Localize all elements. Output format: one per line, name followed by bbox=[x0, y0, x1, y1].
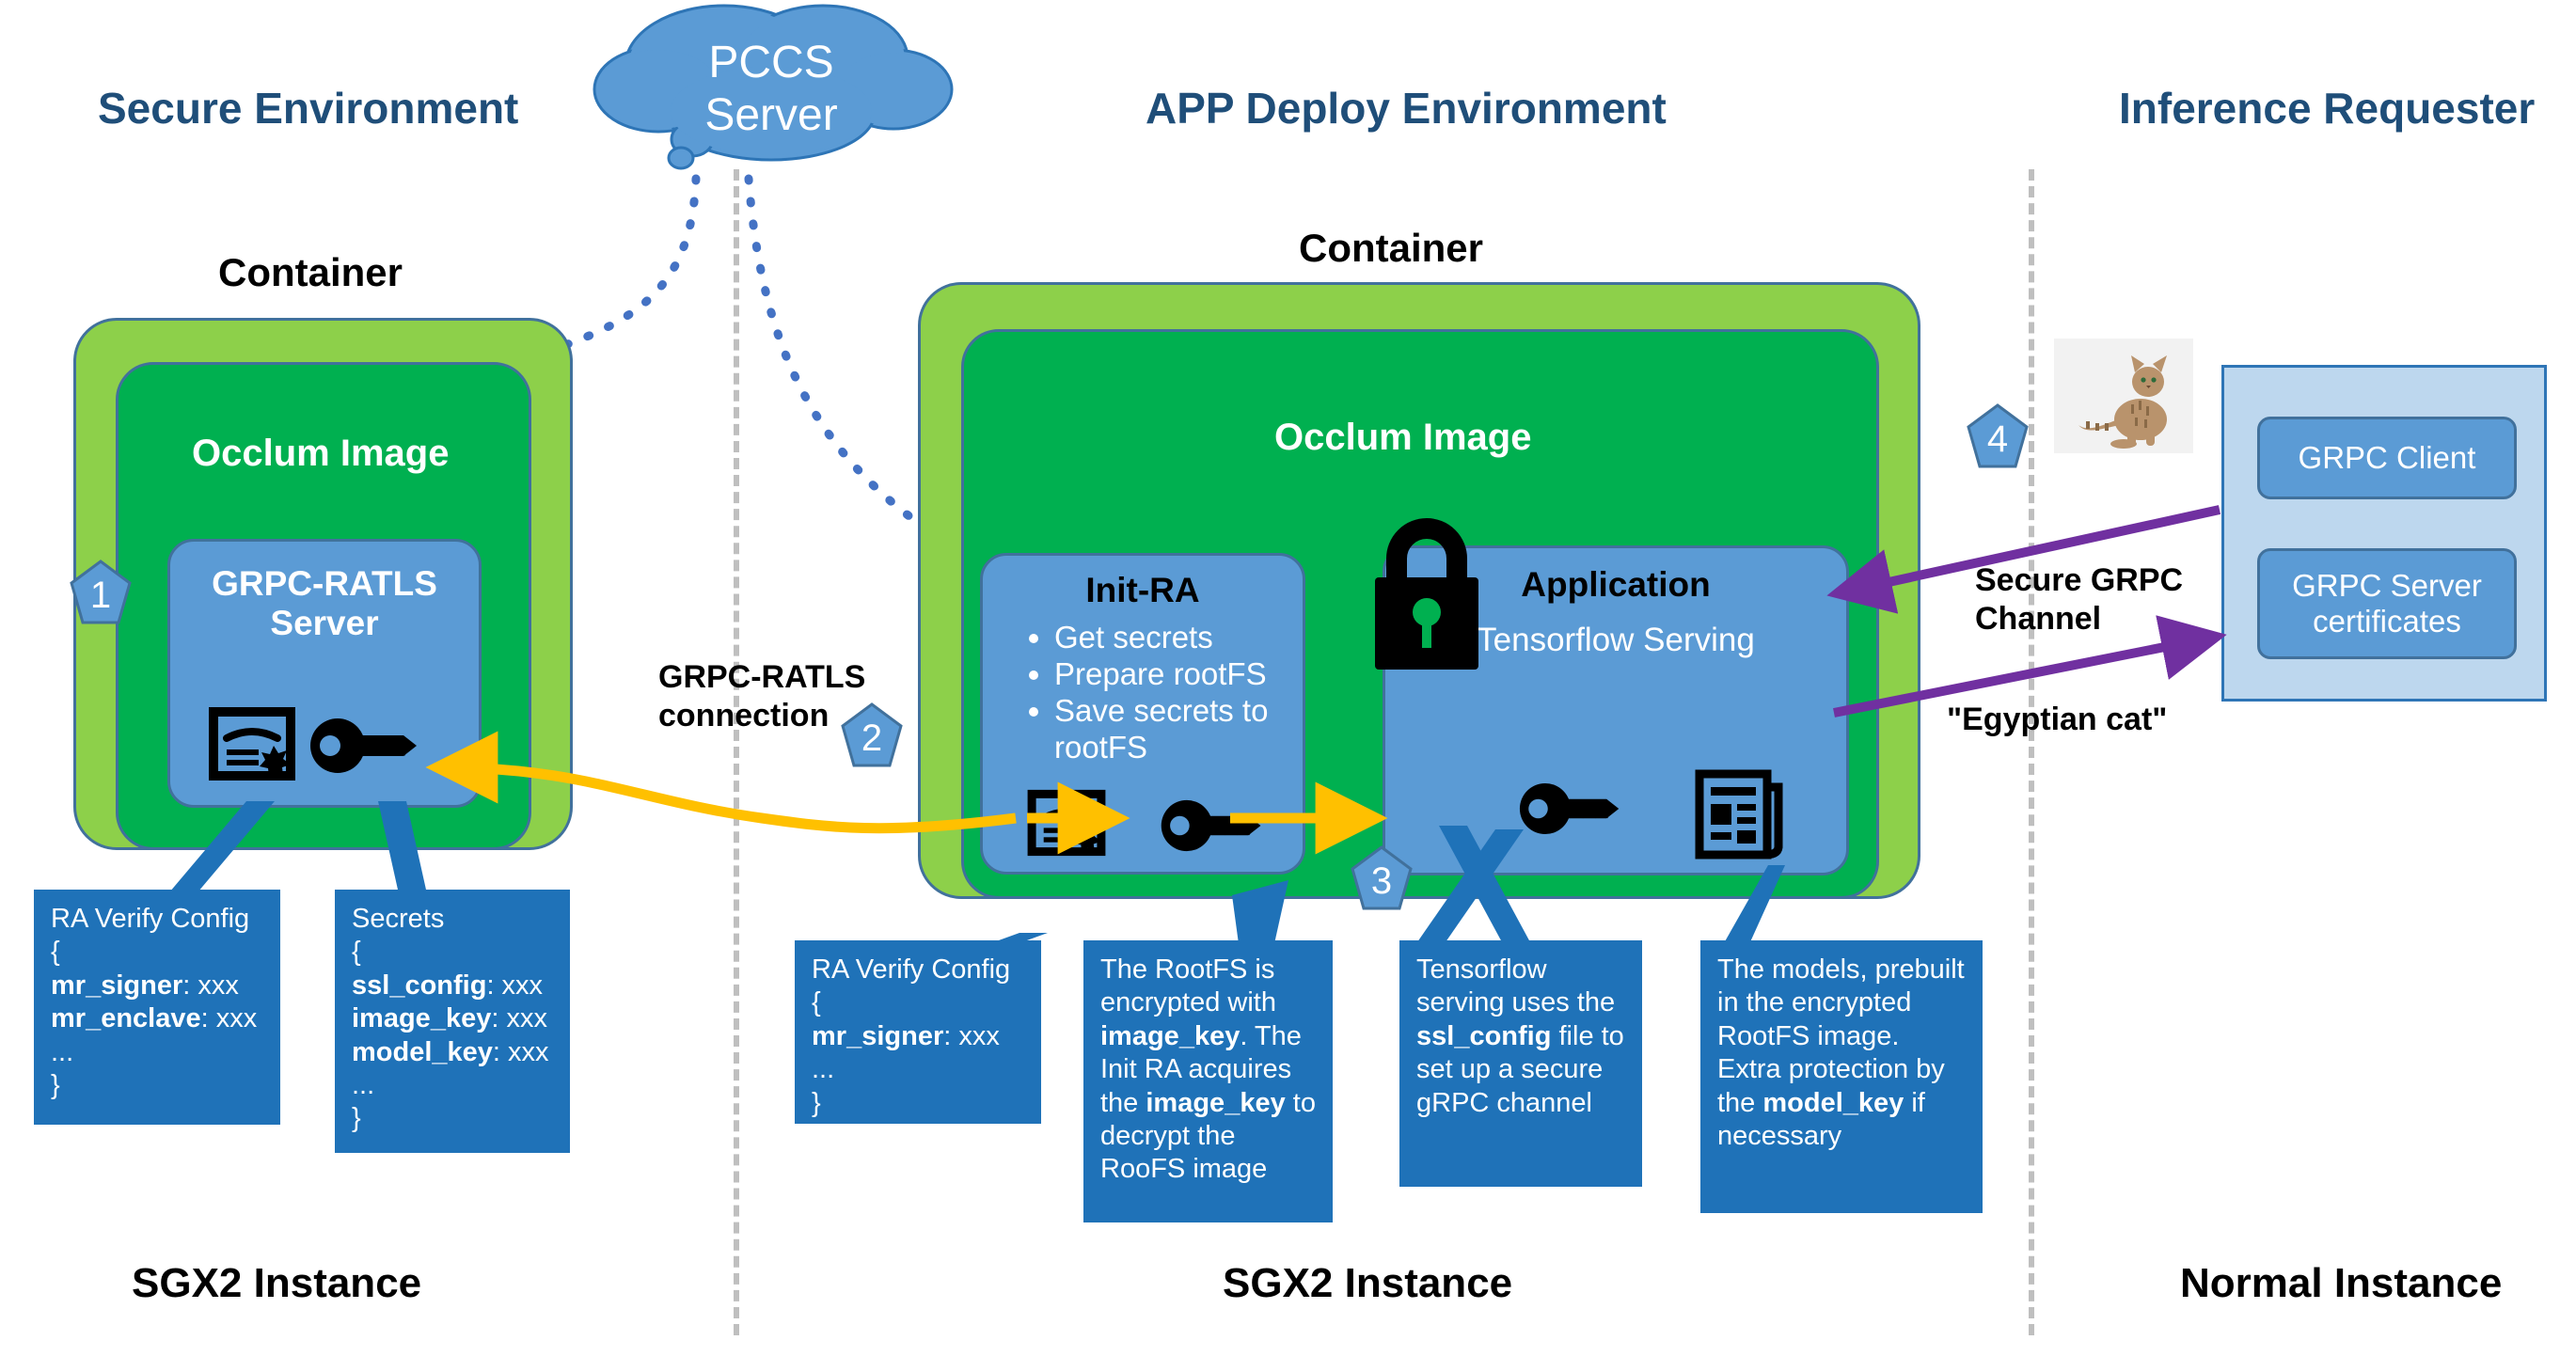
cloud-line-2: Server bbox=[704, 90, 837, 140]
note-text-bold: ssl_config bbox=[1416, 1021, 1551, 1051]
note-key-mr-signer: mr_signer bbox=[812, 1021, 943, 1051]
cloud-line-1: PCCS bbox=[708, 38, 833, 87]
pccs-server-cloud: PCCS Server bbox=[583, 0, 969, 197]
padlock-icon bbox=[1366, 515, 1488, 685]
init-ra-title: Init-RA bbox=[983, 571, 1303, 610]
grpc-client-box[interactable]: GRPC Client bbox=[2257, 417, 2517, 499]
note-title: Secrets bbox=[352, 903, 555, 936]
middle-note-model-key: The models, prebuilt in the encrypted Ro… bbox=[1700, 940, 1983, 1213]
note-val-mr-enclave: : xxx bbox=[201, 1003, 258, 1033]
zone-title-secure: Secure Environment bbox=[98, 83, 518, 134]
note-text-part: The RootFS is encrypted with bbox=[1100, 954, 1276, 1017]
middle-occlum-label: Occlum Image bbox=[1274, 417, 1531, 459]
grpc-ratls-server-line1: GRPC-RATLS bbox=[170, 564, 479, 604]
note-text-bold: image_key bbox=[1146, 1088, 1285, 1118]
note-val-ssl-config: : xxx bbox=[486, 970, 543, 1001]
note-val-mr-signer: : xxx bbox=[182, 970, 239, 1001]
zone-title-app-deploy: APP Deploy Environment bbox=[1146, 83, 1667, 134]
step-badge-1-label: 1 bbox=[66, 560, 135, 630]
note-text-bold: image_key bbox=[1100, 1021, 1240, 1051]
zone-title-inference-requester: Inference Requester bbox=[2119, 83, 2535, 134]
egyptian-cat-photo bbox=[2054, 339, 2193, 453]
egyptian-cat-result-label: "Egyptian cat" bbox=[1947, 701, 2167, 739]
note-open-brace: { bbox=[812, 986, 1026, 1019]
left-occlum-label: Occlum Image bbox=[192, 433, 449, 475]
grpc-server-certificates-box[interactable]: GRPC Server certificates bbox=[2257, 548, 2517, 659]
init-ra-bullet: Get secrets bbox=[1054, 620, 1336, 656]
secure-grpc-channel-label: Secure GRPC Channel bbox=[1975, 561, 2183, 639]
middle-note-rootfs-encryption: The RootFS is encrypted with image_key. … bbox=[1083, 940, 1333, 1222]
note-text-part: Tensorflow serving uses the bbox=[1416, 954, 1615, 1017]
note-text-bold: model_key bbox=[1762, 1088, 1904, 1118]
note-close-brace: } bbox=[51, 1069, 265, 1102]
left-note-secrets: Secrets { ssl_config: xxx image_key: xxx… bbox=[335, 890, 570, 1153]
note-val-mr-signer: : xxx bbox=[943, 1021, 1000, 1051]
bottom-label-normal-instance: Normal Instance bbox=[2180, 1260, 2502, 1307]
note-ellipsis: ... bbox=[812, 1053, 1026, 1086]
note-open-brace: { bbox=[352, 936, 555, 969]
note-title: RA Verify Config bbox=[812, 954, 1026, 986]
note-key-mr-signer: mr_signer bbox=[51, 970, 182, 1001]
grpc-ratls-server-line2: Server bbox=[170, 604, 479, 643]
left-note-ra-verify-config: RA Verify Config { mr_signer: xxx mr_enc… bbox=[34, 890, 280, 1125]
note-val-image-key: : xxx bbox=[491, 1003, 547, 1033]
note-key-ssl-config: ssl_config bbox=[352, 970, 486, 1001]
note-ellipsis: ... bbox=[51, 1036, 265, 1069]
middle-note-ra-verify-config: RA Verify Config { mr_signer: xxx ... } bbox=[795, 940, 1041, 1124]
note-key-mr-enclave: mr_enclave bbox=[51, 1003, 201, 1033]
left-container-title: Container bbox=[218, 250, 403, 295]
middle-note-ssl-config: Tensorflow serving uses the ssl_config f… bbox=[1399, 940, 1642, 1187]
note-close-brace: } bbox=[812, 1087, 1026, 1120]
note-key-model-key: model_key bbox=[352, 1037, 493, 1067]
init-ra-bullet: Prepare rootFS bbox=[1054, 656, 1336, 693]
bottom-label-sgx2-left: SGX2 Instance bbox=[132, 1260, 421, 1307]
note-ellipsis: ... bbox=[352, 1069, 555, 1102]
note-open-brace: { bbox=[51, 936, 265, 969]
note-val-model-key: : xxx bbox=[493, 1037, 549, 1067]
certificate-icon bbox=[210, 706, 294, 781]
inference-requester-panel: GRPC Client GRPC Server certificates bbox=[2221, 365, 2547, 702]
middle-container-title: Container bbox=[1299, 226, 1483, 271]
note-close-brace: } bbox=[352, 1102, 555, 1135]
divider-app-requester bbox=[2029, 169, 2034, 1335]
note-title: RA Verify Config bbox=[51, 903, 265, 936]
bottom-label-sgx2-middle: SGX2 Instance bbox=[1223, 1260, 1512, 1307]
note-key-image-key: image_key bbox=[352, 1003, 491, 1033]
